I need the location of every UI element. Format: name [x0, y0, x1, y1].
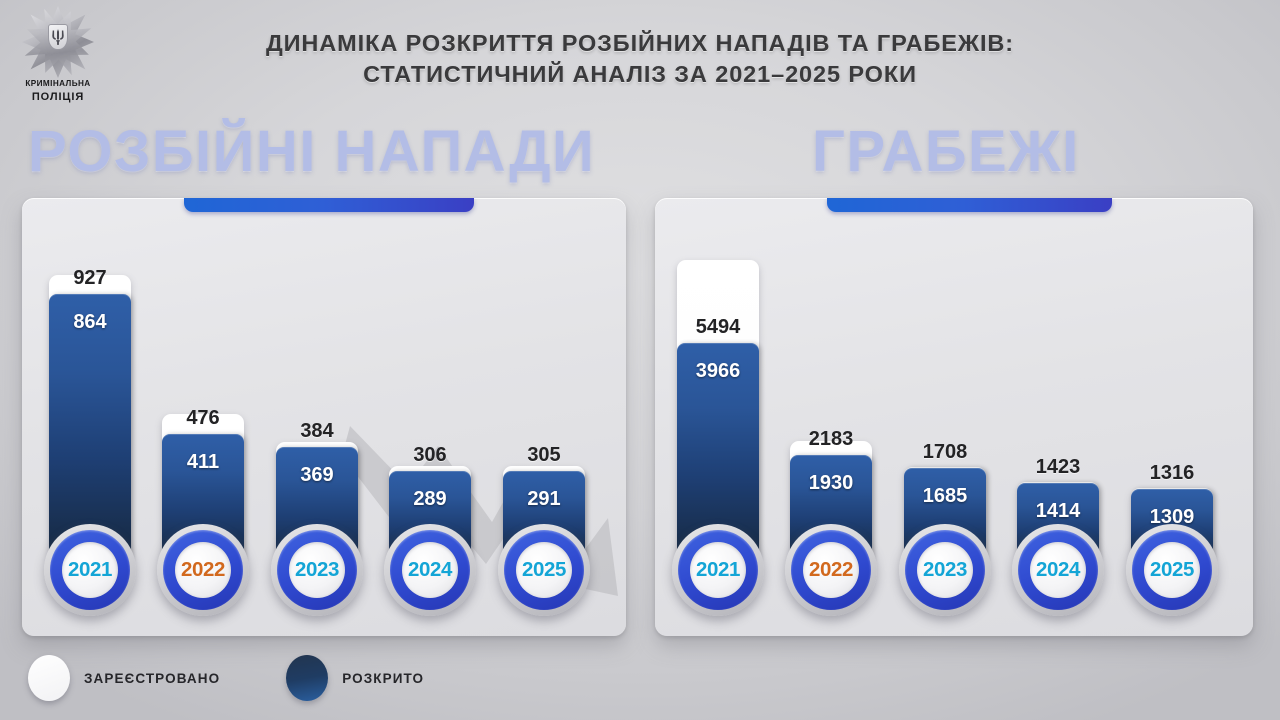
logo-line1: КРИМІНАЛЬНА: [10, 79, 106, 88]
value-solved: 1414: [1017, 500, 1099, 523]
legend-dot-registered-icon: [28, 655, 70, 701]
value-solved: 3966: [677, 360, 759, 383]
value-registered: 1423: [1017, 456, 1099, 479]
year-label: 2022: [809, 558, 853, 582]
year-badge-2024[interactable]: 2024: [1012, 524, 1104, 616]
value-solved: 1685: [904, 485, 986, 508]
section-heading-robberies: ГРАБЕЖІ: [812, 118, 1080, 185]
year-hole: 2022: [175, 542, 231, 598]
value-registered: 1316: [1131, 462, 1213, 485]
year-badge-2023[interactable]: 2023: [271, 524, 363, 616]
year-label: 2025: [522, 558, 566, 582]
tryzub-icon: [52, 29, 65, 46]
year-ring: 2023: [905, 530, 985, 610]
value-registered: 927: [49, 267, 131, 290]
value-registered: 476: [162, 407, 244, 430]
section-heading-robbery-attacks: РОЗБІЙНІ НАПАДИ: [28, 118, 595, 185]
year-ring: 2025: [1132, 530, 1212, 610]
year-ring: 2025: [504, 530, 584, 610]
legend-dot-solved-icon: [286, 655, 328, 701]
year-label: 2024: [408, 558, 452, 582]
year-hole: 2021: [690, 542, 746, 598]
year-badge-2022[interactable]: 2022: [157, 524, 249, 616]
year-hole: 2022: [803, 542, 859, 598]
value-registered: 2183: [790, 428, 872, 451]
bar-registered: [677, 260, 759, 560]
legend-label-solved: РОЗКРИТО: [342, 671, 424, 686]
logo-line2: ПОЛІЦІЯ: [10, 91, 106, 103]
legend: ЗАРЕЄСТРОВАНО РОЗКРИТО: [28, 655, 424, 701]
chart-panel-robberies: 5494396620212183193020221708168520231423…: [655, 198, 1253, 636]
year-badge-2021[interactable]: 2021: [672, 524, 764, 616]
year-label: 2022: [181, 558, 225, 582]
value-solved: 864: [49, 311, 131, 334]
year-ring: 2024: [1018, 530, 1098, 610]
year-label: 2021: [68, 558, 112, 582]
year-badge-2025[interactable]: 2025: [1126, 524, 1218, 616]
value-solved: 289: [389, 488, 471, 511]
year-label: 2023: [923, 558, 967, 582]
year-badge-2021[interactable]: 2021: [44, 524, 136, 616]
value-solved: 1930: [790, 472, 872, 495]
year-hole: 2024: [1030, 542, 1086, 598]
year-ring: 2021: [678, 530, 758, 610]
police-logo: КРИМІНАЛЬНА ПОЛІЦІЯ: [10, 6, 106, 110]
title-line-1: ДИНАМІКА РОЗКРИТТЯ РОЗБІЙНИХ НАПАДІВ ТА …: [266, 30, 1014, 56]
year-badge-2023[interactable]: 2023: [899, 524, 991, 616]
year-badge-2025[interactable]: 2025: [498, 524, 590, 616]
year-label: 2021: [696, 558, 740, 582]
value-solved: 369: [276, 464, 358, 487]
year-badge-2024[interactable]: 2024: [384, 524, 476, 616]
trident-shield-icon: [48, 24, 68, 50]
legend-label-registered: ЗАРЕЄСТРОВАНО: [84, 671, 220, 686]
legend-item-solved: РОЗКРИТО: [286, 655, 424, 701]
page-title: ДИНАМІКА РОЗКРИТТЯ РОЗБІЙНИХ НАПАДІВ ТА …: [180, 28, 1100, 91]
year-hole: 2024: [402, 542, 458, 598]
value-registered: 384: [276, 420, 358, 443]
value-registered: 1708: [904, 441, 986, 464]
year-ring: 2022: [791, 530, 871, 610]
value-solved: 291: [503, 488, 585, 511]
year-badge-2022[interactable]: 2022: [785, 524, 877, 616]
legend-item-registered: ЗАРЕЄСТРОВАНО: [28, 655, 220, 701]
year-label: 2024: [1036, 558, 1080, 582]
value-registered: 305: [503, 444, 585, 467]
year-label: 2023: [295, 558, 339, 582]
chart-panel-robbery-attacks: 9278642021476411202238436920233062892024…: [22, 198, 626, 636]
year-ring: 2022: [163, 530, 243, 610]
year-hole: 2025: [1144, 542, 1200, 598]
bar-chart-robberies: 5494396620212183193020221708168520231423…: [655, 198, 1253, 636]
value-registered: 306: [389, 444, 471, 467]
year-hole: 2025: [516, 542, 572, 598]
year-ring: 2021: [50, 530, 130, 610]
year-hole: 2023: [289, 542, 345, 598]
title-line-2: СТАТИСТИЧНИЙ АНАЛІЗ ЗА 2021–2025 РОКИ: [180, 59, 1100, 90]
year-ring: 2024: [390, 530, 470, 610]
bar-chart-robbery-attacks: 9278642021476411202238436920233062892024…: [22, 198, 626, 636]
year-hole: 2021: [62, 542, 118, 598]
year-ring: 2023: [277, 530, 357, 610]
value-registered: 5494: [677, 316, 759, 339]
year-hole: 2023: [917, 542, 973, 598]
police-star-badge-icon: [22, 6, 94, 78]
year-label: 2025: [1150, 558, 1194, 582]
value-solved: 411: [162, 451, 244, 474]
